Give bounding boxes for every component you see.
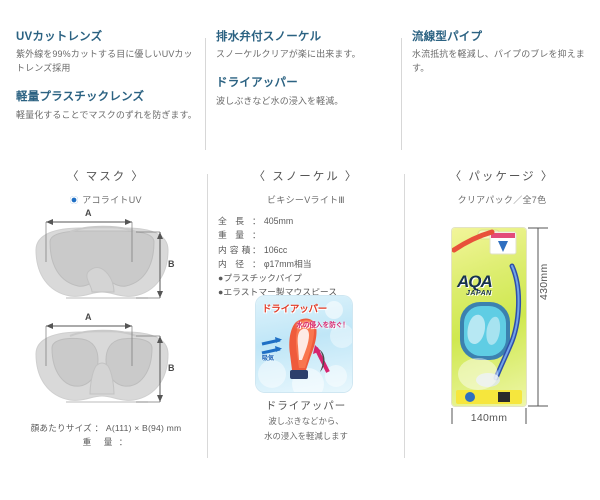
spec-separator: ： [252, 259, 261, 269]
spec-separator: ： [252, 245, 261, 255]
feature-title: UVカットレンズ [16, 30, 200, 44]
feature-uv-lens: UVカットレンズ 紫外線を99%カットする目に優しいUVカットレンズ採用 [16, 30, 200, 76]
feature-description: 波しぶきなど水の浸入を軽減。 [216, 95, 406, 109]
spec-key: 全 長 [218, 214, 252, 228]
dry-caption-line2: 水の浸入を軽減します [212, 430, 400, 443]
spec-row: 内容積：106cc [218, 243, 400, 257]
feature-description: 軽量化することでマスクのずれを防ぎます。 [16, 109, 200, 123]
product-spec-page: UVカットレンズ 紫外線を99%カットする目に優しいUVカットレンズ採用 軽量プ… [0, 0, 600, 500]
feature-title: ドライアッパー [216, 76, 406, 90]
spec-value: 106cc [264, 245, 287, 255]
bullet-icon [70, 196, 78, 204]
snorkel-spec-list: 全 長：405mm 重 量： 内容積：106cc 内 径：φ17mm相当 ●プラ… [218, 214, 400, 300]
feature-column-mask: UVカットレンズ 紫外線を99%カットする目に優しいUVカットレンズ採用 軽量プ… [16, 30, 200, 155]
mask-model-line: アコライトUV [8, 193, 204, 206]
detail-divider-1 [207, 174, 208, 458]
feature-divider-1 [205, 38, 206, 150]
package-subtitle: クリアパック／全7色 [410, 193, 594, 206]
snorkel-model-name: ビキシーVライトⅢ [212, 193, 400, 206]
mask-weight: 重 量 ： [8, 436, 204, 448]
mask-diagram-single: A B [8, 212, 204, 316]
feature-streamline-pipe: 流線型パイプ 水流抵抗を軽減し、パイプのブレを抑えます。 [412, 30, 592, 76]
mask-face-size: 顔あたりサイズ ： A(111) × B(94) mm [8, 422, 204, 434]
detail-divider-2 [404, 174, 405, 458]
package-dimension-lines [410, 212, 594, 442]
spec-row: 内 径：φ17mm相当 [218, 257, 400, 271]
spec-row: 重 量： [218, 228, 400, 242]
spec-separator: ： [252, 216, 261, 226]
spec-row: 全 長：405mm [218, 214, 400, 228]
mask-footnotes: 顔あたりサイズ ： A(111) × B(94) mm 重 量 ： [8, 422, 204, 448]
feature-purge-valve: 排水弁付スノーケル スノーケルクリアが楽に出来ます。 [216, 30, 406, 62]
detail-section: 〈 マスク 〉 アコライトUV [0, 168, 600, 468]
feature-dry-upper: ドライアッパー 波しぶきなど水の浸入を軽減。 [216, 76, 406, 108]
dry-upper-title: ドライアッパー [262, 301, 327, 315]
dry-caption-line1: 波しぶきなどから、 [212, 415, 400, 428]
package-column: 〈 パッケージ 〉 クリアパック／全7色 [410, 168, 594, 442]
feature-title: 排水弁付スノーケル [216, 30, 406, 44]
mask-dim-b-label: B [168, 259, 175, 269]
spec-key: 重 量 [218, 228, 252, 242]
spec-key: 内容積 [218, 243, 252, 257]
package-figure: AQA JAPAN 140mm 430mm [410, 212, 594, 442]
feature-lightweight-lens: 軽量プラスチックレンズ 軽量化することでマスクのずれを防ぎます。 [16, 90, 200, 122]
dry-upper-illustration: ドライアッパー 水の侵入を防ぐ！ 吸気 [256, 296, 352, 392]
mask-heading: 〈 マスク 〉 [8, 168, 204, 184]
spec-value: φ17mm相当 [264, 259, 312, 269]
mask-column: 〈 マスク 〉 アコライトUV [8, 168, 204, 448]
features-section: UVカットレンズ 紫外線を99%カットする目に優しいUVカットレンズ採用 軽量プ… [0, 30, 600, 155]
package-heading: 〈 パッケージ 〉 [410, 168, 594, 184]
feature-column-snorkel: 排水弁付スノーケル スノーケルクリアが楽に出来ます。 ドライアッパー 波しぶきな… [216, 30, 406, 155]
feature-title: 軽量プラスチックレンズ [16, 90, 200, 104]
feature-description: 紫外線を99%カットする目に優しいUVカットレンズ採用 [16, 48, 200, 76]
dry-upper-note: 水の侵入を防ぐ！ [296, 319, 349, 329]
mask-model-name: アコライトUV [82, 195, 142, 205]
mask-dim-a-label: A [85, 208, 92, 218]
dry-upper-inhale-label: 吸気 [262, 353, 274, 362]
snorkel-heading: 〈 スノーケル 〉 [212, 168, 400, 184]
spec-value: 405mm [264, 216, 293, 226]
spec-key: 内 径 [218, 257, 252, 271]
feature-column-pipe: 流線型パイプ 水流抵抗を軽減し、パイプのブレを抑えます。 [412, 30, 592, 155]
feature-title: 流線型パイプ [412, 30, 592, 44]
dry-upper-caption: ドライアッパー 波しぶきなどから、 水の浸入を軽減します [212, 398, 400, 442]
spec-bullet-item: ●プラスチックパイプ [218, 271, 400, 285]
dry-caption-title: ドライアッパー [212, 398, 400, 413]
mask-dim-b-label: B [168, 363, 175, 373]
feature-description: スノーケルクリアが楽に出来ます。 [216, 48, 406, 62]
package-width-label: 140mm [452, 412, 526, 424]
mask-dim-a-label: A [85, 312, 92, 322]
spec-separator: ： [252, 230, 261, 240]
mask-diagram-dual: A B [8, 316, 204, 420]
snorkel-column: 〈 スノーケル 〉 ビキシーVライトⅢ 全 長：405mm 重 量： 内容積：1… [212, 168, 400, 300]
feature-description: 水流抵抗を軽減し、パイプのブレを抑えます。 [412, 48, 592, 76]
package-height-label: 430mm [538, 263, 550, 300]
